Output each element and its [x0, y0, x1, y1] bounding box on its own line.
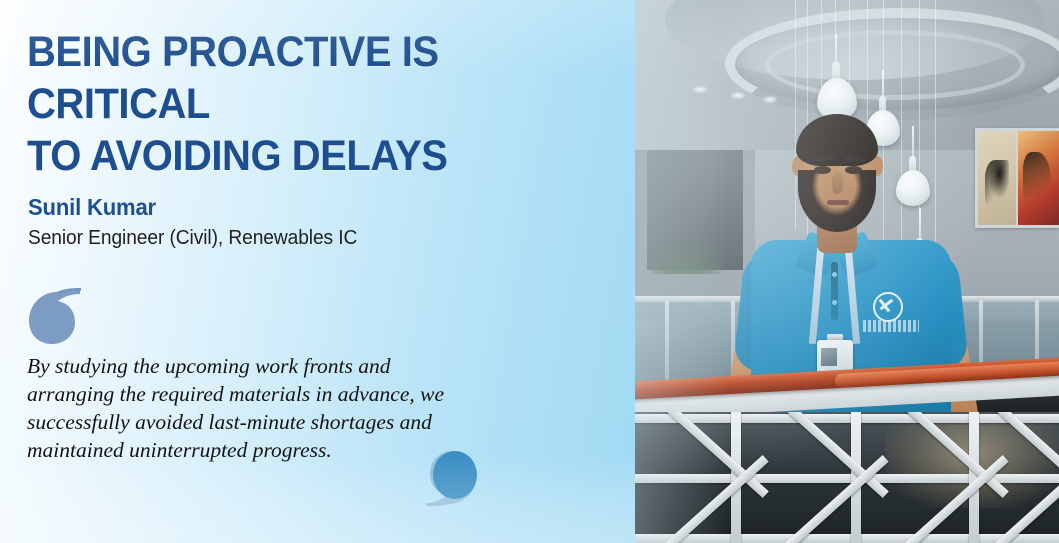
pendant-lamp-icon: [896, 170, 930, 206]
close-quote-icon: [424, 448, 480, 506]
lattice-railing: [635, 412, 1059, 543]
potted-plant: [651, 232, 721, 274]
artwork-right-brushstroke: [1023, 152, 1051, 210]
testimonial-card: BEING PROACTIVE IS CRITICAL TO AVOIDING …: [0, 0, 1059, 543]
eye-right: [845, 166, 862, 174]
downlight-icon: [731, 92, 745, 99]
text-panel: BEING PROACTIVE IS CRITICAL TO AVOIDING …: [0, 0, 640, 543]
company-logo-wordmark: [863, 320, 919, 332]
open-quote-icon: [27, 288, 83, 346]
rail-post: [665, 300, 669, 392]
id-badge-photo: [821, 348, 837, 366]
shirt-placket: [831, 262, 838, 320]
company-logo-icon: [873, 292, 903, 322]
person-name: Sunil Kumar: [28, 194, 156, 221]
page-title: BEING PROACTIVE IS CRITICAL TO AVOIDING …: [27, 26, 585, 182]
quote-text: By studying the upcoming work fronts and…: [27, 352, 567, 464]
person-role: Senior Engineer (Civil), Renewables IC: [28, 227, 357, 250]
downlight-icon: [693, 86, 707, 93]
person-photo: [635, 0, 1059, 543]
downlight-icon: [763, 96, 777, 103]
mouth: [827, 200, 849, 205]
ceiling-ring-inner: [765, 30, 1025, 100]
shirt-button: [832, 300, 837, 305]
shirt-button: [832, 272, 837, 277]
eye-left: [814, 166, 831, 174]
nose: [832, 172, 843, 194]
artwork-left-brushstroke: [985, 160, 1009, 206]
